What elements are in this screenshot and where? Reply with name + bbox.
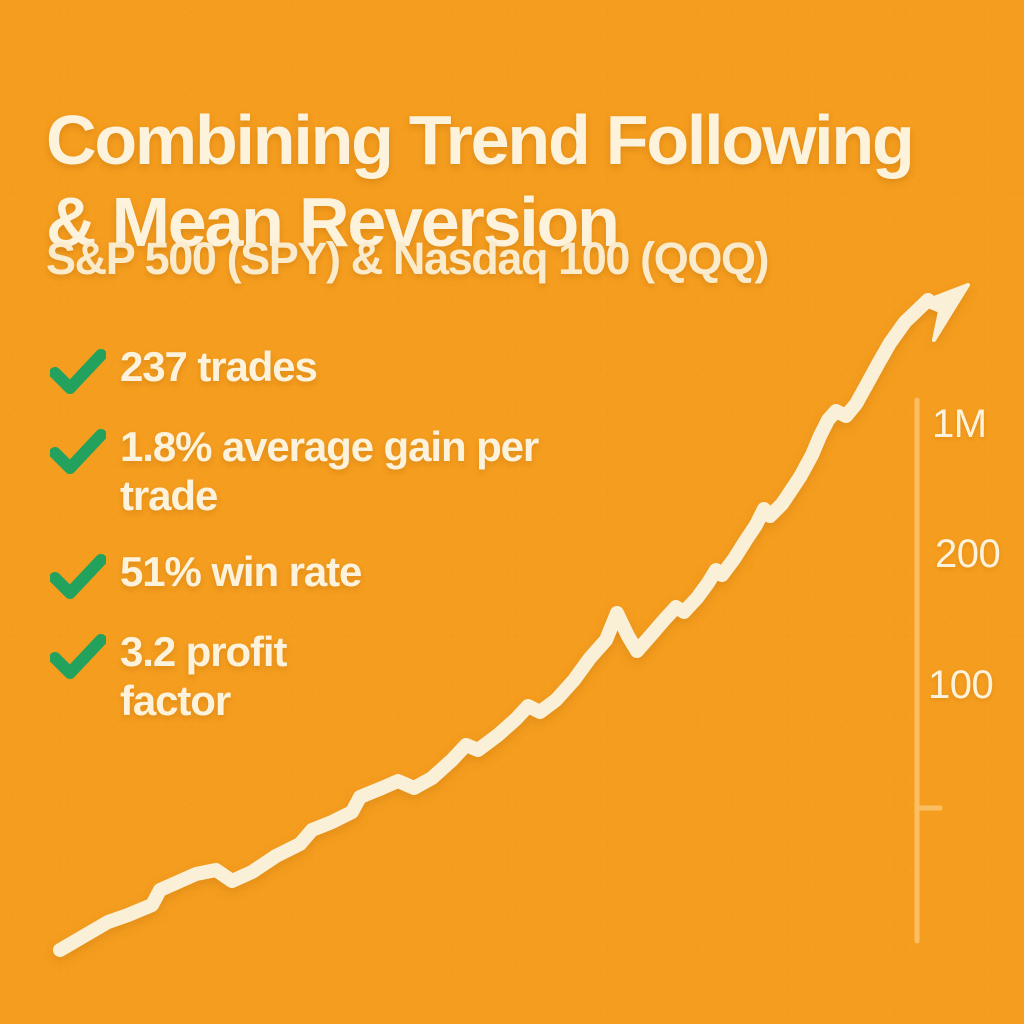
check-icon	[50, 634, 106, 680]
list-item: 1.8% average gain per trade	[50, 422, 610, 520]
list-item-label: 237 trades	[120, 342, 317, 391]
list-item: 3.2 profit factor	[50, 627, 610, 725]
poster-canvas: 1M 200 100 Combining Trend Following & M…	[0, 0, 1024, 1024]
list-item: 237 trades	[50, 342, 610, 395]
list-item: 51% win rate	[50, 547, 610, 600]
y-axis-label-1m: 1M	[932, 402, 987, 447]
y-axis-label-200: 200	[935, 532, 1000, 577]
page-title-line-1: Combining Trend Following	[46, 99, 1006, 182]
y-axis-label-100: 100	[928, 663, 993, 708]
stats-bullet-list: 237 trades 1.8% average gain per trade 5…	[50, 342, 610, 753]
list-item-label: 51% win rate	[120, 547, 361, 596]
check-icon	[50, 429, 106, 475]
page-subtitle: S&P 500 (SPY) & Nasdaq 100 (QQQ)	[46, 233, 768, 285]
check-icon	[50, 554, 106, 600]
list-item-label: 3.2 profit factor	[120, 627, 380, 725]
list-item-label: 1.8% average gain per trade	[120, 422, 550, 520]
check-icon	[50, 349, 106, 395]
